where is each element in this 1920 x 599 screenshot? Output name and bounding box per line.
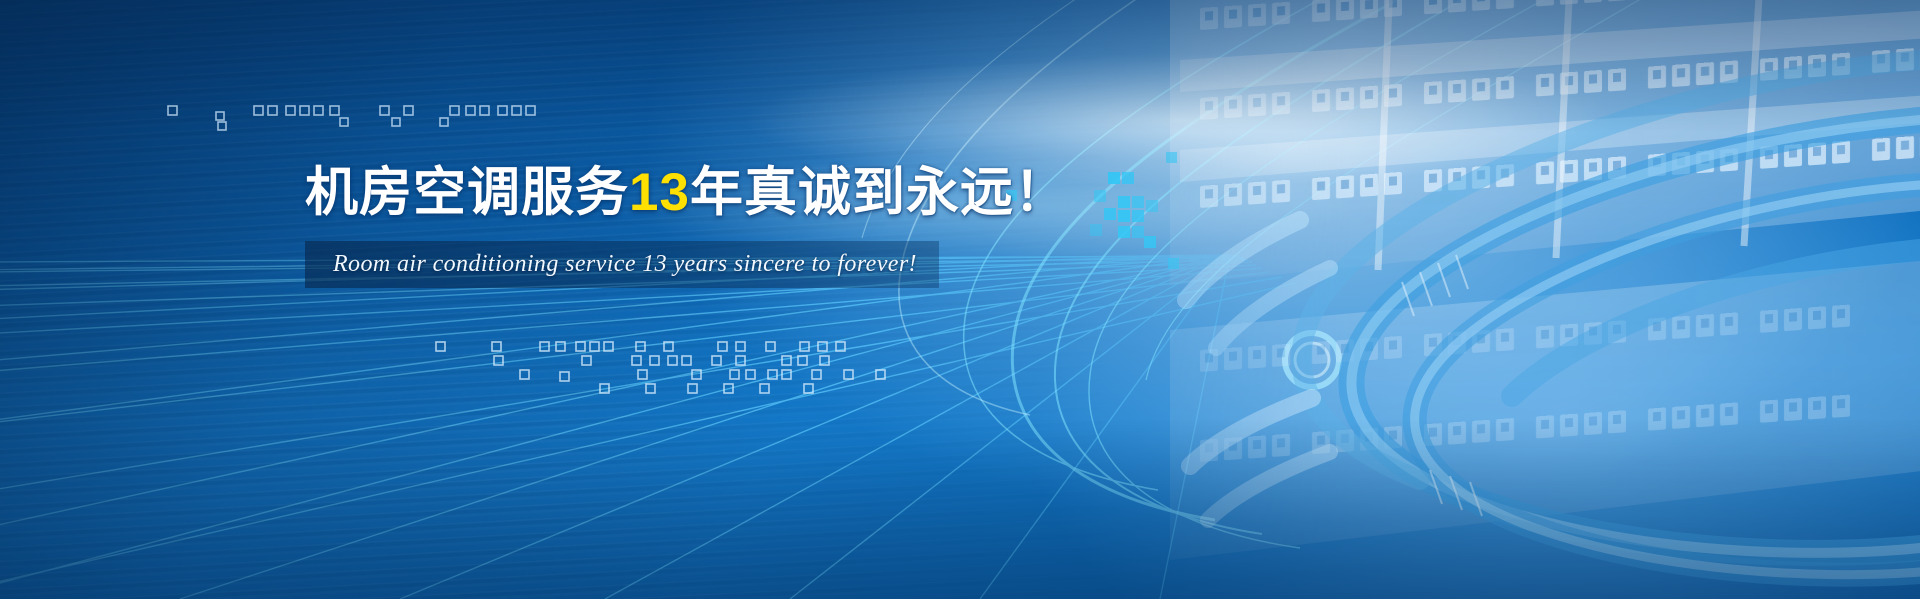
server-patch-panel-image — [0, 0, 1920, 599]
light-ribbon-decor — [0, 0, 1920, 599]
headline-accent-number: 13 — [629, 163, 690, 222]
ethernet-cable-bundle — [1186, 60, 1920, 575]
motion-streaks-decor — [0, 0, 1920, 599]
ring-glow-decor — [1285, 333, 1339, 387]
subtitle-bar: Room air conditioning service 13 years s… — [305, 241, 939, 288]
headline-suffix: 年真诚到永远！ — [690, 163, 1068, 222]
subtitle: Room air conditioning service 13 years s… — [333, 250, 917, 278]
hero-banner: 机房空调服务13年真诚到永远！ Room air conditioning se… — [0, 0, 1920, 599]
headline-prefix: 机房空调服务 — [305, 163, 629, 222]
cyan-mosaic-decor — [0, 0, 1920, 599]
vignette-overlay — [0, 0, 1920, 599]
perspective-grid-decor — [0, 0, 1920, 599]
decor-squares-bottom — [0, 0, 1920, 599]
decor-squares-top — [0, 0, 1920, 599]
light-glow-overlay — [0, 0, 1920, 599]
banner-text-block: 机房空调服务13年真诚到永远！ Room air conditioning se… — [305, 163, 945, 288]
headline: 机房空调服务13年真诚到永远！ — [305, 163, 945, 223]
background-gradient — [0, 0, 1920, 599]
